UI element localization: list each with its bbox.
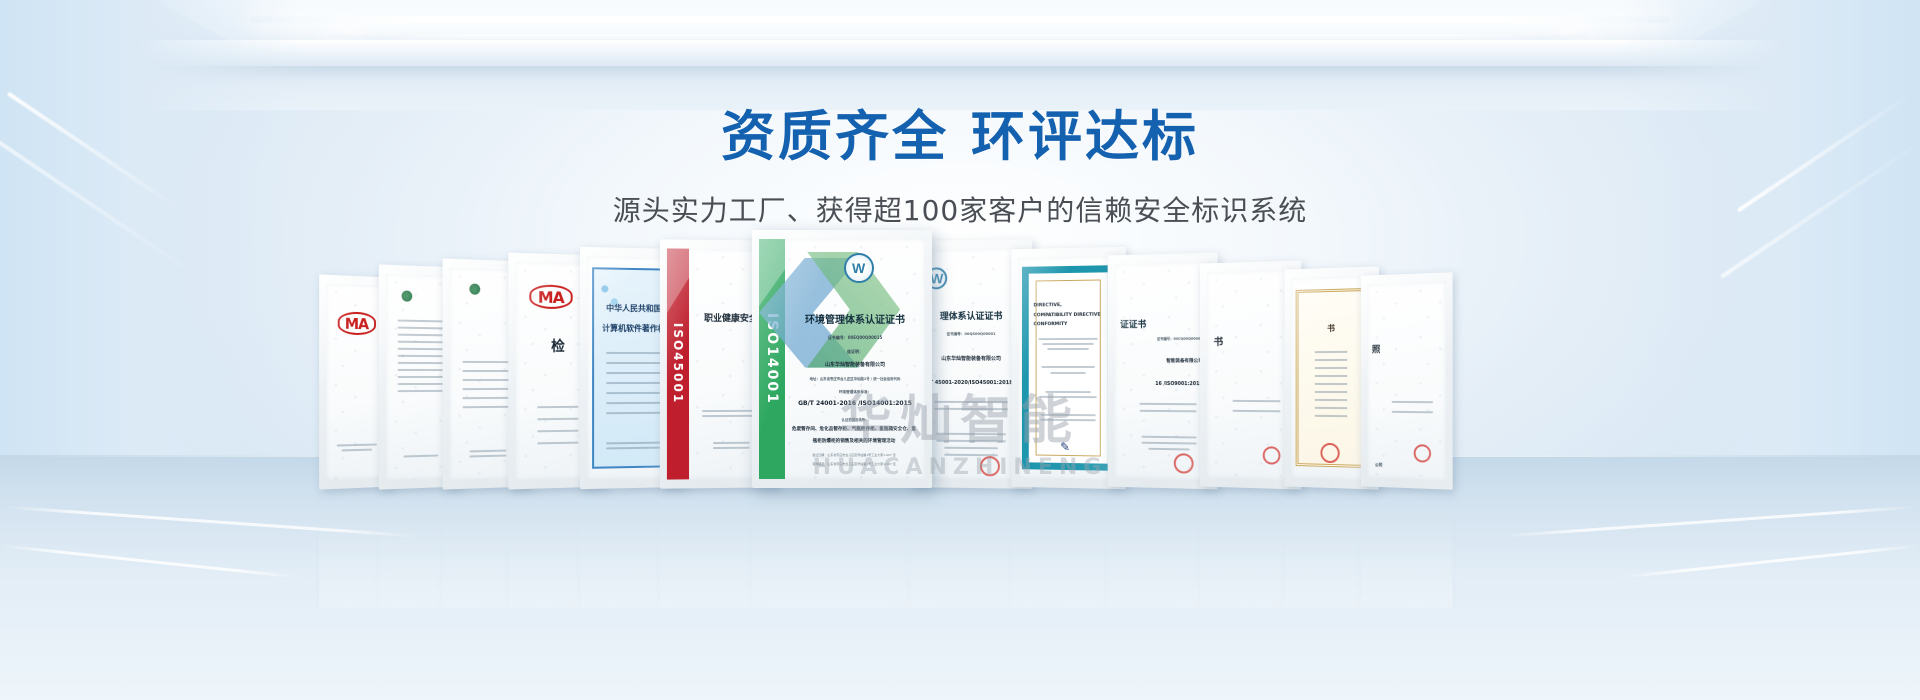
iso45001-doc-standard: T 45001-2020/ISO45001:2018 bbox=[918, 380, 1025, 386]
ce-title-line3: CONFORMITY bbox=[1034, 322, 1103, 328]
banner-title-part-1: 资质齐全 bbox=[721, 105, 949, 168]
iso14001-company-label: 兹证明： bbox=[785, 349, 925, 355]
iso14001-company: 山东华灿智能装备有限公司 bbox=[785, 361, 925, 368]
ce-signature: ✎ bbox=[1060, 440, 1108, 455]
certification-banner: 资质齐全环评达标 源头实力工厂、获得超100家客户的信赖安全标识系统 MA bbox=[0, 0, 1920, 700]
ce-detail-lines bbox=[1035, 366, 1101, 374]
ceiling-light-strip-1 bbox=[250, 16, 1670, 23]
ce-teal-border: DIRECTIVE, COMPATIBILITY DIRECTIVE CONFO… bbox=[1022, 265, 1115, 471]
iso9001-company: 智能装备有限公司 bbox=[1133, 358, 1202, 364]
iso14001-title: 环境管理体系认证证书 bbox=[785, 311, 925, 326]
iso45001-doc-issue-lines bbox=[928, 433, 1014, 457]
certificate-reflection bbox=[1361, 492, 1453, 608]
iso14001-scope-line2: 瓶柜防爆柜的销售及相关的环境管理活动 bbox=[787, 438, 921, 444]
certificate-paper: ISO14001 环境管理体系认证证书 证书编号：00EQ00Q00015 兹证… bbox=[759, 239, 925, 479]
iso45001-band: ISO45001 bbox=[667, 248, 689, 479]
iso9001-scope-lines bbox=[1133, 403, 1202, 413]
iso14001-issue-line2: 有效期至：山东省枣庄市台儿庄区华灿路1号工业大厦1-607 室 bbox=[787, 462, 921, 466]
iso14001-issue-line1: 发证日期：山东省枣庄市台儿庄区华灿路1号工业大厦1-607 室 bbox=[787, 453, 921, 457]
certificate-reflections bbox=[300, 488, 1620, 608]
banner-title-part-2: 环评达标 bbox=[971, 105, 1199, 168]
ma-badge-icon: MA bbox=[337, 312, 375, 336]
banner-heading-block: 资质齐全环评达标 源头实力工厂、获得超100家客户的信赖安全标识系统 bbox=[0, 92, 1920, 229]
corner-ornament-icon bbox=[598, 273, 625, 324]
red-seal-icon bbox=[980, 456, 1000, 476]
iso9001-cert-no: 证书编号：00CQ00Q00002 bbox=[1143, 336, 1203, 341]
business-license-title: 照 bbox=[1372, 341, 1446, 355]
gold-cert-rows bbox=[1311, 350, 1350, 416]
certificate-wall: MA bbox=[300, 228, 1620, 488]
certificate-text-lines bbox=[332, 443, 381, 451]
paper-watermark bbox=[1207, 270, 1295, 480]
iso14001-scope-line1: 危废暂存间、危化品暂存柜、气瓶柜存柜、氢瓶箱安全仓、氢 bbox=[787, 426, 921, 432]
ce-title-line2: COMPATIBILITY DIRECTIVE bbox=[1034, 312, 1103, 318]
band-notch-icon bbox=[667, 248, 689, 313]
ma-badge-icon: MA bbox=[529, 284, 572, 309]
red-seal-icon bbox=[1414, 444, 1431, 463]
certificate-paper: 理体系认证证书 证书编号：00QS00Q00001 山东华灿智能装备有限公司 T… bbox=[918, 248, 1025, 479]
paper-watermark bbox=[1367, 282, 1445, 481]
iso14001-address: 地址：山东省枣庄市台儿庄区华灿路1号 / 统一社会信用代码 bbox=[785, 376, 925, 381]
iso9001-title: 证证书 bbox=[1120, 316, 1211, 330]
iso14001-cert-no: 证书编号：00EQ00Q00015 bbox=[785, 335, 925, 341]
certificate-frame-business-license[interactable]: 照 公司 bbox=[1361, 272, 1453, 490]
ce-body-lines bbox=[1035, 337, 1101, 349]
certificate-paper: 书 bbox=[1207, 270, 1295, 480]
iso45001-band-text: ISO45001 bbox=[671, 323, 685, 404]
gold-cert-title: 书 bbox=[1299, 322, 1365, 334]
gold-ornamental-border: 书 bbox=[1296, 288, 1367, 468]
iso14001-band-text: ISO14001 bbox=[764, 313, 780, 405]
iso45001-doc-cert-no: 证书编号：00QS00Q00001 bbox=[918, 332, 1025, 337]
honor-field-lines bbox=[1227, 400, 1285, 413]
ce-title-line1: DIRECTIVE, bbox=[1034, 303, 1103, 309]
business-license-lines bbox=[1387, 400, 1437, 412]
banner-subtitle: 源头实力工厂、获得超100家客户的信赖安全标识系统 bbox=[0, 189, 1920, 229]
iso45001-doc-company: 山东华灿智能装备有限公司 bbox=[918, 355, 1025, 362]
red-seal-icon bbox=[1262, 446, 1280, 464]
iso9001-issue-lines bbox=[1135, 435, 1203, 450]
iso9001-standard: 16 /ISO9001:2015 bbox=[1128, 382, 1203, 387]
honor-title: 书 bbox=[1214, 333, 1295, 349]
iso45001-doc-scope-lines bbox=[926, 401, 1016, 410]
ceiling-light-strip-2 bbox=[330, 34, 1590, 39]
iso14001-band: ISO14001 bbox=[759, 239, 785, 479]
ce-standard-lines bbox=[1035, 413, 1101, 421]
cnas-seal-icon bbox=[470, 283, 481, 294]
certificate-paper: DIRECTIVE, COMPATIBILITY DIRECTIVE CONFO… bbox=[1018, 256, 1119, 480]
banner-title: 资质齐全环评达标 bbox=[0, 92, 1920, 171]
iso14001-standard: GB/T 24001-2016 /ISO14001:2015 bbox=[785, 400, 925, 407]
cnas-logo-icon bbox=[844, 253, 874, 283]
iso14001-standard-label: 环境管理体系标准： bbox=[785, 390, 925, 395]
certificate-reflection bbox=[752, 493, 932, 608]
certificate-paper: 照 公司 bbox=[1367, 282, 1445, 481]
certificate-frame-iso14001-featured[interactable]: ISO14001 环境管理体系认证证书 证书编号：00EQ00Q00015 兹证… bbox=[752, 230, 932, 488]
certificate-table-rows bbox=[393, 319, 449, 392]
red-seal-icon bbox=[1174, 453, 1194, 473]
iso14001-scope-label: 认证范围及场所： bbox=[785, 417, 925, 422]
certificate-paper: 证证书 证书编号：00CQ00Q00002 智能装备有限公司 16 /ISO90… bbox=[1114, 262, 1210, 480]
red-seal-icon bbox=[1321, 443, 1340, 463]
ce-annex-lines bbox=[1035, 391, 1101, 398]
band-notch-icon bbox=[759, 239, 785, 306]
iso45001-doc-title: 理体系认证证书 bbox=[918, 308, 1025, 322]
copyright-field-lines bbox=[600, 352, 667, 414]
ceiling-lip bbox=[0, 40, 1920, 66]
copyright-note-lines bbox=[600, 442, 667, 450]
